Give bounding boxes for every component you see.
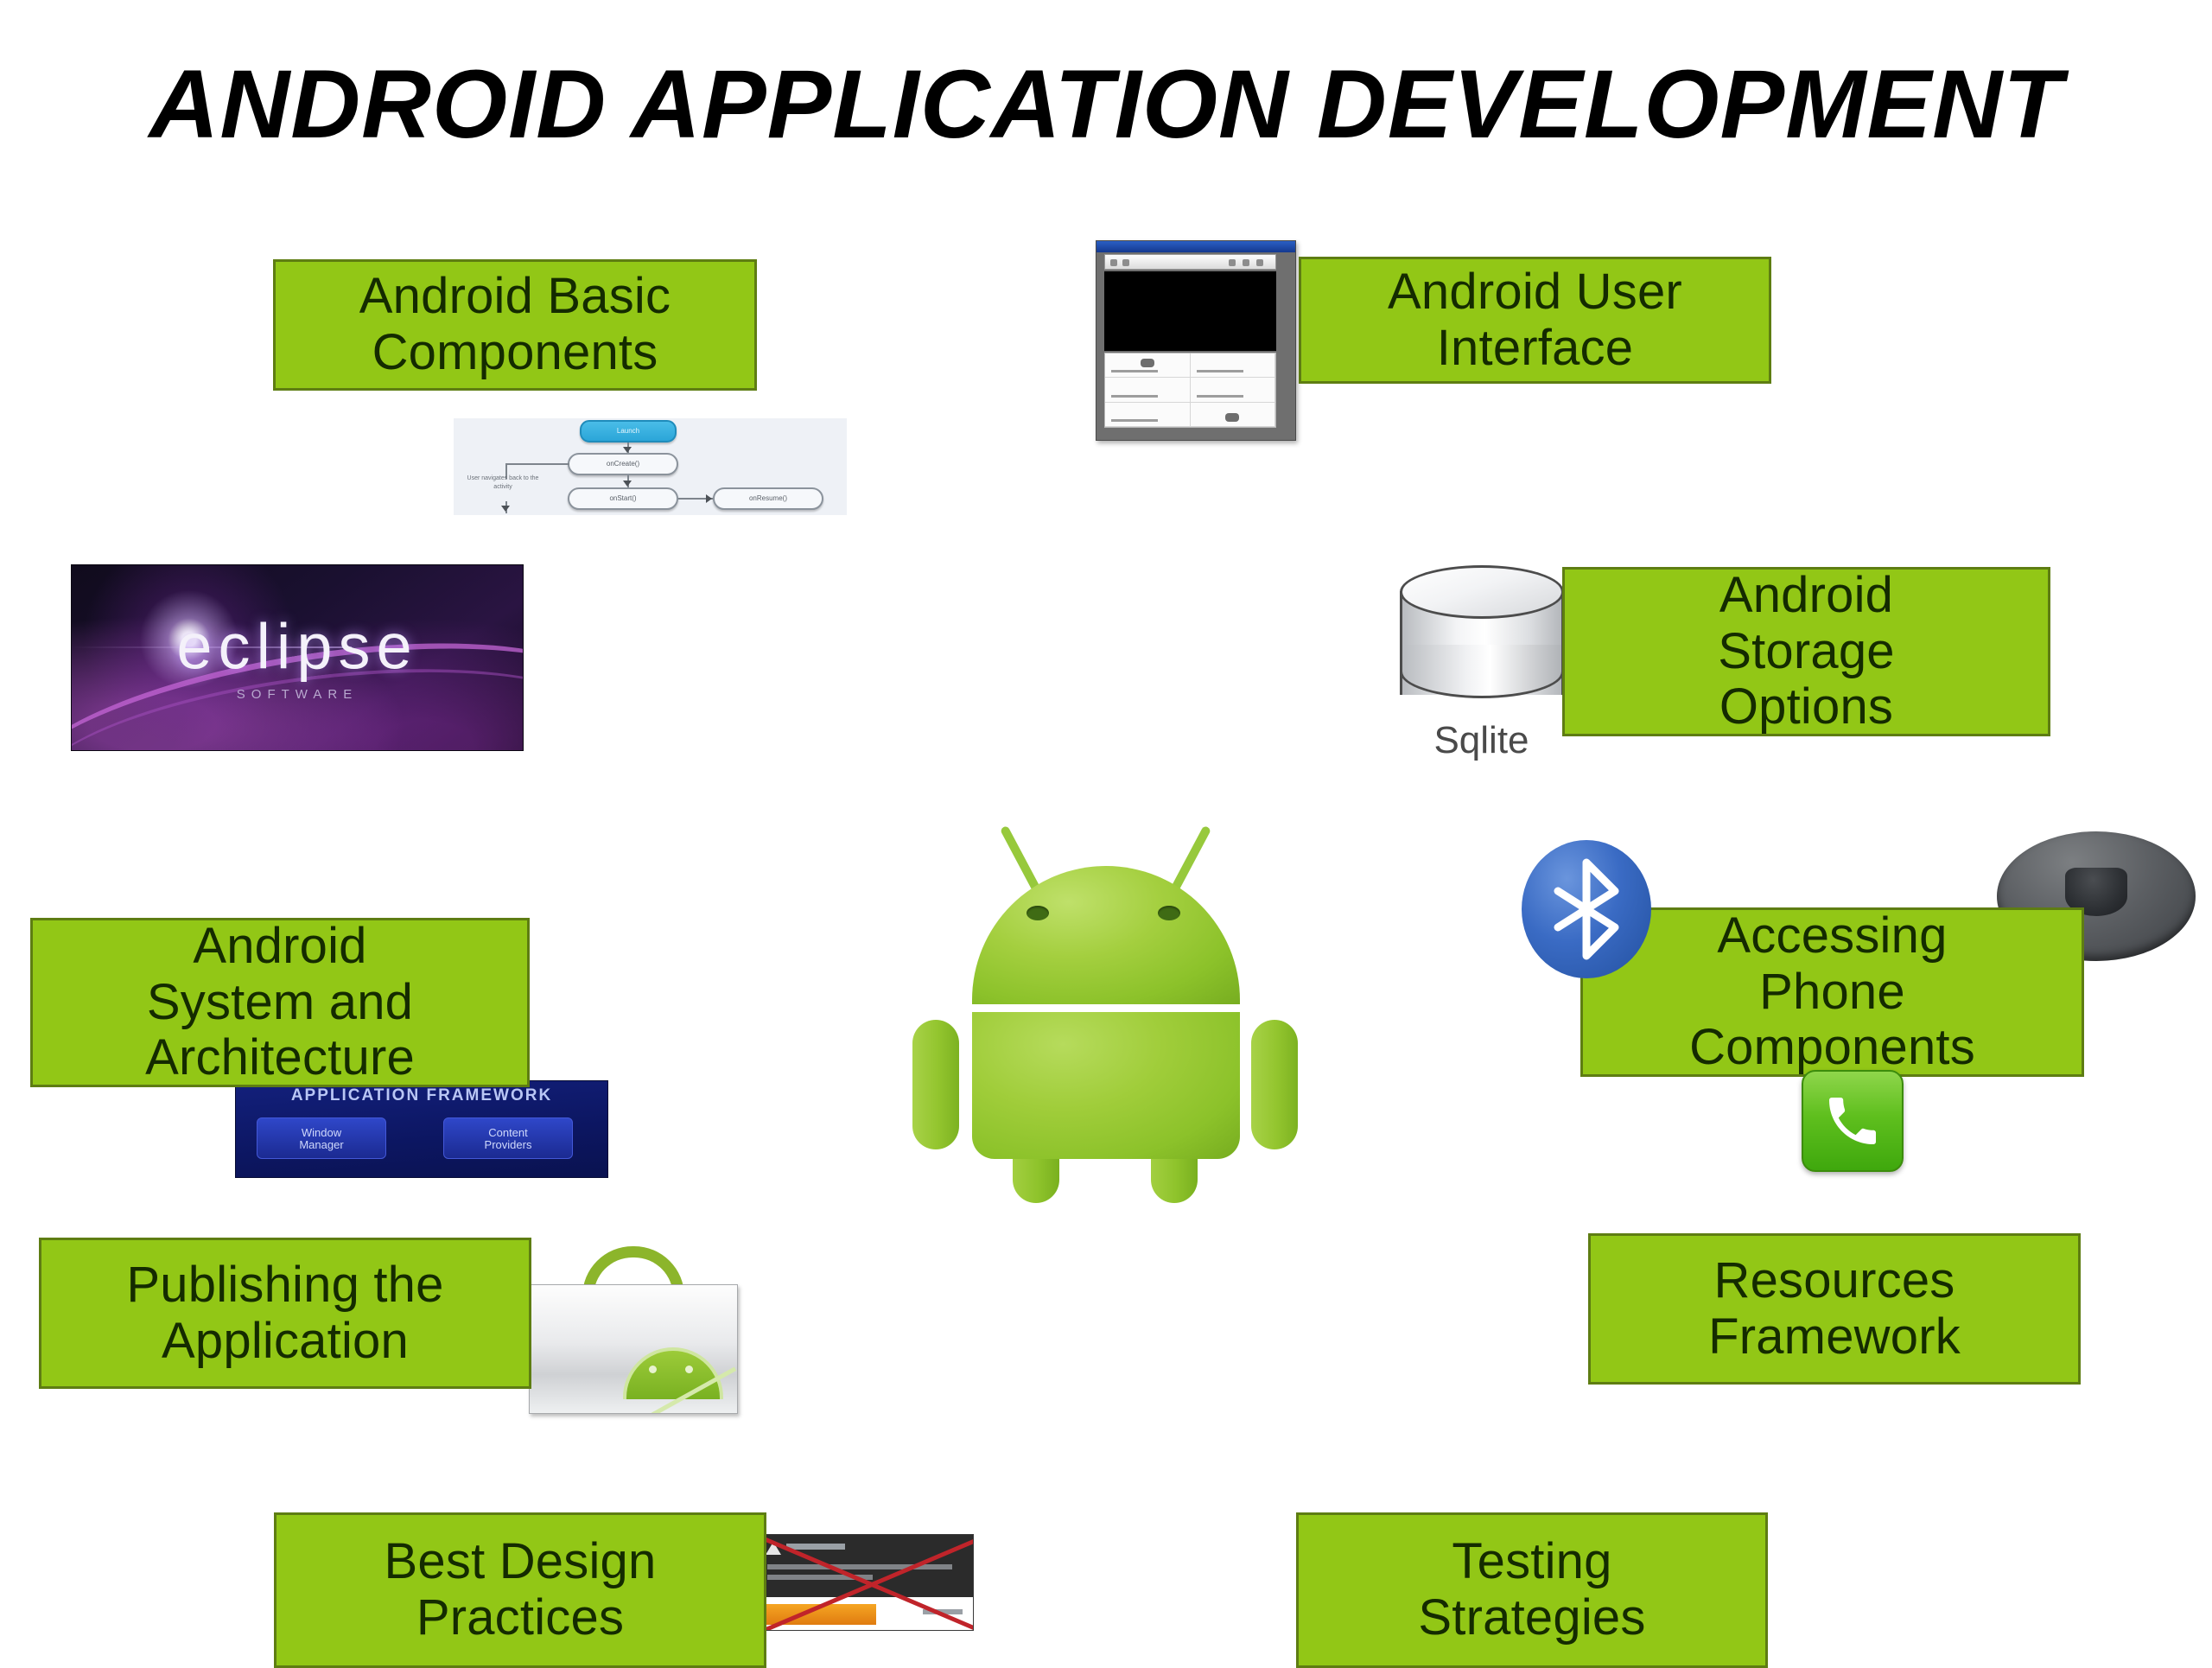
topic-label-line1: Android User — [1388, 264, 1682, 321]
emulator-menu-item — [1191, 403, 1276, 427]
menu-item-label — [1111, 370, 1158, 372]
android-head — [972, 866, 1240, 1004]
toolbar-icon — [1256, 259, 1263, 266]
database-cylinder-icon — [1400, 565, 1564, 708]
briefcase-android-eye-right — [685, 1366, 693, 1373]
briefcase-android-head — [623, 1347, 723, 1399]
topic-label-line1: Publishing the — [126, 1257, 443, 1314]
phone-call-icon — [1802, 1070, 1904, 1172]
android-emulator-window — [1096, 240, 1296, 441]
topic-box-phone-components[interactable]: Accessing Phone Components — [1580, 907, 2084, 1077]
topic-label-line1: Testing — [1418, 1534, 1645, 1590]
sqlite-caption: Sqlite — [1393, 719, 1570, 762]
android-head-body-gap — [972, 1004, 1240, 1012]
eclipse-ide-logo: eclipse SOFTWARE — [71, 564, 524, 751]
toolbar-icon — [1229, 259, 1236, 266]
menu-item-label — [1197, 370, 1243, 372]
page-title: ANDROID APPLICATION DEVELOPMENT — [0, 54, 2212, 156]
flowchart-note: User navigates back to the activity — [462, 470, 543, 503]
eclipse-wordmark: eclipse — [72, 610, 523, 684]
topic-box-testing-strategies[interactable]: Testing Strategies — [1296, 1512, 1768, 1668]
bluetooth-icon — [1522, 840, 1651, 978]
flowchart-node-onstart: onStart() — [568, 487, 678, 510]
toolbar-icon — [1122, 259, 1129, 266]
topic-label-line2: Application — [126, 1314, 443, 1370]
topic-label-line2: Interface — [1388, 321, 1682, 377]
example-dialog-text — [767, 1564, 952, 1569]
android-robot-mascot — [881, 812, 1331, 1175]
android-arm-left — [912, 1020, 959, 1149]
topic-label-line1: Best Design — [385, 1534, 657, 1590]
framework-chip-window-manager: Window Manager — [257, 1117, 386, 1159]
topic-label-line1: Android Basic — [359, 269, 671, 325]
emulator-menu-item — [1105, 378, 1191, 402]
topic-label-line3: Architecture — [145, 1030, 415, 1086]
menu-item-icon — [1141, 359, 1154, 367]
bad-design-example-thumbnail — [756, 1534, 974, 1631]
android-market-briefcase-icon — [527, 1246, 740, 1416]
topic-label-line1: Android — [1718, 568, 1895, 624]
menu-item-label — [1111, 395, 1158, 398]
bluetooth-glyph-icon — [1522, 840, 1651, 978]
menu-item-icon — [1225, 413, 1239, 422]
example-dialog-title — [786, 1544, 845, 1550]
menu-item-label — [1111, 419, 1158, 422]
application-framework-title: APPLICATION FRAMEWORK — [236, 1086, 607, 1105]
emulator-titlebar — [1096, 241, 1295, 252]
menu-item-label — [1197, 395, 1243, 398]
topic-label-line1: Android — [145, 919, 415, 975]
phone-handset-glyph-icon — [1821, 1090, 1884, 1152]
topic-box-publishing[interactable]: Publishing the Application — [39, 1238, 531, 1389]
flowchart-node-launch: Launch — [580, 420, 677, 442]
application-framework-diagram: APPLICATION FRAMEWORK Window Manager Con… — [235, 1080, 608, 1178]
topic-label-line1: Accessing — [1689, 908, 1975, 965]
flowchart-node-onresume: onResume() — [713, 487, 823, 510]
briefcase-android-eye-left — [649, 1366, 657, 1373]
android-body — [972, 1012, 1240, 1159]
toolbar-icon — [1243, 259, 1249, 266]
framework-chip-content-providers: Content Providers — [443, 1117, 573, 1159]
flowchart-arrow-icon — [623, 481, 632, 487]
topic-box-basic-components[interactable]: Android Basic Components — [273, 259, 757, 391]
android-eye-right — [1158, 906, 1180, 920]
topic-label-line1: Resources — [1708, 1253, 1961, 1309]
flowchart-arrow-icon — [501, 506, 510, 512]
topic-label-line3: Components — [1689, 1020, 1975, 1076]
emulator-toolbar — [1104, 254, 1276, 270]
emulator-menu-item — [1191, 353, 1276, 378]
emulator-menu-item — [1105, 403, 1191, 427]
flowchart-arrow-icon — [706, 494, 712, 503]
topic-label-line2: Phone — [1689, 965, 1975, 1021]
topic-box-system-architecture[interactable]: Android System and Architecture — [30, 918, 530, 1087]
topic-box-storage-options[interactable]: Android Storage Options — [1562, 567, 2050, 736]
topic-label-line2: System and — [145, 975, 415, 1031]
briefcase-android-logo — [611, 1313, 732, 1413]
activity-lifecycle-flowchart: Launch onCreate() onStart() onResume() U… — [454, 418, 847, 515]
cylinder-bottom — [1400, 645, 1564, 698]
android-eye-left — [1027, 906, 1049, 920]
topic-label-line2: Strategies — [1418, 1590, 1645, 1646]
slide-canvas: ANDROID APPLICATION DEVELOPMENT Launch o… — [0, 0, 2212, 1659]
topic-label-line2: Storage — [1718, 624, 1895, 680]
flowchart-arrow-icon — [623, 447, 632, 453]
topic-label-line3: Options — [1718, 679, 1895, 735]
emulator-menu-item — [1191, 378, 1276, 402]
flowchart-node-oncreate: onCreate() — [568, 453, 678, 475]
topic-box-best-design-practices[interactable]: Best Design Practices — [274, 1512, 766, 1668]
eclipse-tagline: SOFTWARE — [72, 687, 523, 702]
emulator-menu-grid — [1104, 353, 1276, 428]
topic-label-line2: Components — [359, 325, 671, 381]
android-arm-right — [1251, 1020, 1298, 1149]
emulator-menu-item — [1105, 353, 1191, 378]
topic-label-line2: Practices — [385, 1590, 657, 1646]
briefcase-body — [529, 1284, 738, 1414]
topic-box-resources-framework[interactable]: Resources Framework — [1588, 1233, 2081, 1385]
topic-box-user-interface[interactable]: Android User Interface — [1299, 257, 1771, 384]
cylinder-top — [1400, 565, 1564, 619]
flowchart-connector — [505, 463, 569, 465]
toolbar-icon — [1110, 259, 1117, 266]
emulator-screen — [1104, 271, 1276, 351]
topic-label-line2: Framework — [1708, 1309, 1961, 1366]
